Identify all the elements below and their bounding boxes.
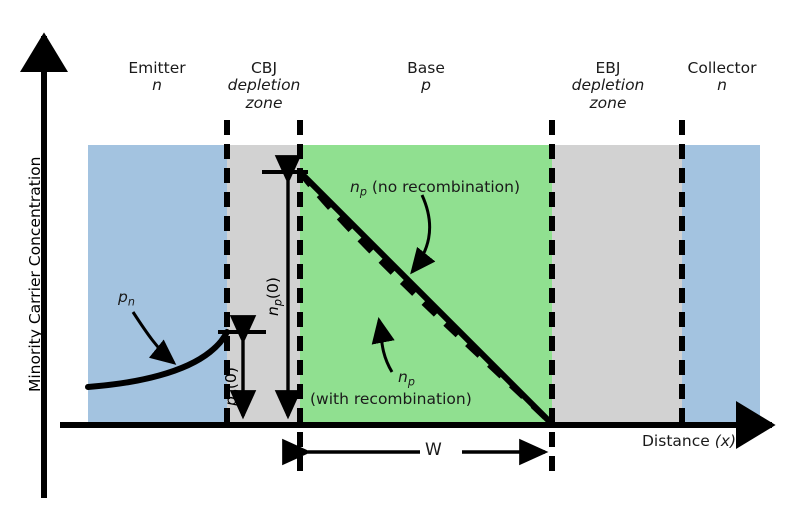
dimension-label-pn0-arg: (0): [222, 367, 240, 389]
band-ebj-depletion: [552, 145, 682, 425]
dimension-label-np0: np(0): [264, 277, 285, 316]
region-label-base: Base p: [372, 60, 480, 95]
region-label-emitter-name: Emitter: [96, 60, 218, 77]
y-axis-title: Minority Carrier Concentration: [26, 157, 44, 392]
annotation-np-no-recombination-subscript: p: [360, 186, 367, 199]
dimension-label-pn0: pn(0): [222, 367, 243, 406]
dimension-label-pn0-symbol: p: [222, 396, 240, 406]
region-label-base-name: Base: [372, 60, 480, 77]
annotation-np-no-recombination-text: (no recombination): [372, 178, 520, 196]
band-collector: [682, 145, 760, 425]
diagram-canvas: Minority Carrier Concentration Distance …: [0, 0, 810, 512]
region-label-emitter-doping: n: [96, 77, 218, 94]
region-label-cbj-line2: depletion: [212, 77, 316, 94]
dimension-label-np0-arg: (0): [264, 277, 282, 299]
annotation-np-with-recombination-symbol-group: np: [398, 368, 415, 389]
annotation-np-no-recombination: np (no recombination): [350, 178, 520, 199]
x-axis-title: Distance (x): [642, 433, 736, 450]
dimension-label-pn0-subscript: n: [230, 389, 243, 396]
annotation-np-with-recombination-symbol: n: [398, 368, 408, 386]
region-label-cbj-name: CBJ: [212, 60, 316, 77]
region-label-cbj-line3: zone: [212, 95, 316, 112]
annotation-pn-symbol: p: [118, 288, 128, 306]
region-label-ebj-name: EBJ: [556, 60, 660, 77]
region-label-cbj: CBJ depletion zone: [212, 60, 316, 112]
region-label-ebj: EBJ depletion zone: [556, 60, 660, 112]
dimension-label-np0-symbol: n: [264, 306, 282, 316]
annotation-np-with-recombination-text: (with recombination): [310, 390, 472, 408]
dimension-label-np0-subscript: p: [272, 299, 285, 306]
region-label-collector-name: Collector: [666, 60, 778, 77]
annotation-pn: pn: [118, 288, 135, 309]
region-label-ebj-line2: depletion: [556, 77, 660, 94]
x-axis-title-var: (x): [715, 432, 736, 450]
region-label-collector-doping: n: [666, 77, 778, 94]
x-axis-title-text: Distance: [642, 432, 710, 450]
region-label-collector: Collector n: [666, 60, 778, 95]
region-label-emitter: Emitter n: [96, 60, 218, 95]
dimension-label-base-width: W: [425, 441, 442, 460]
region-label-ebj-line3: zone: [556, 95, 660, 112]
annotation-np-with-recombination-text-wrap: (with recombination): [310, 390, 472, 408]
annotation-np-no-recombination-symbol: n: [350, 178, 360, 196]
annotation-np-with-recombination-subscript: p: [408, 376, 415, 389]
annotation-pn-subscript: n: [128, 296, 135, 309]
region-label-base-doping: p: [372, 77, 480, 94]
